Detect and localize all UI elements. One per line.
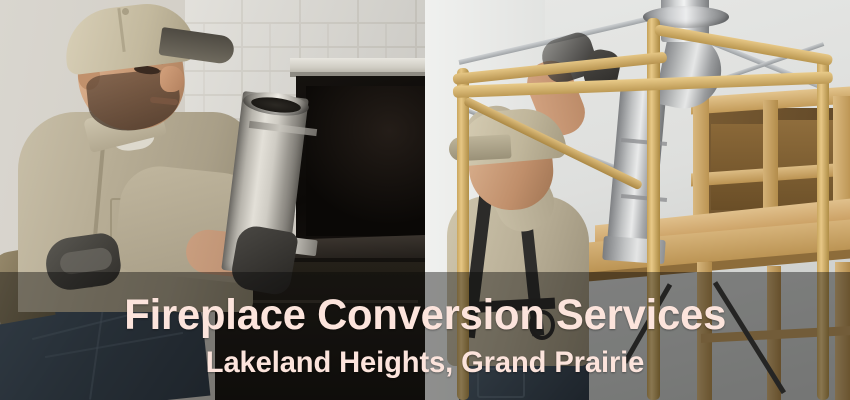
banner-title: Fireplace Conversion Services — [124, 293, 726, 338]
firebox-interior — [306, 86, 425, 236]
cap-button — [122, 8, 129, 15]
service-banner: Fireplace Conversion Services Lakeland H… — [0, 0, 850, 400]
banner-subtitle: Lakeland Heights, Grand Prairie — [206, 347, 644, 379]
wood-panel-1 — [711, 124, 763, 210]
caption-block: Fireplace Conversion Services Lakeland H… — [0, 272, 850, 400]
worker-nose — [160, 66, 184, 92]
